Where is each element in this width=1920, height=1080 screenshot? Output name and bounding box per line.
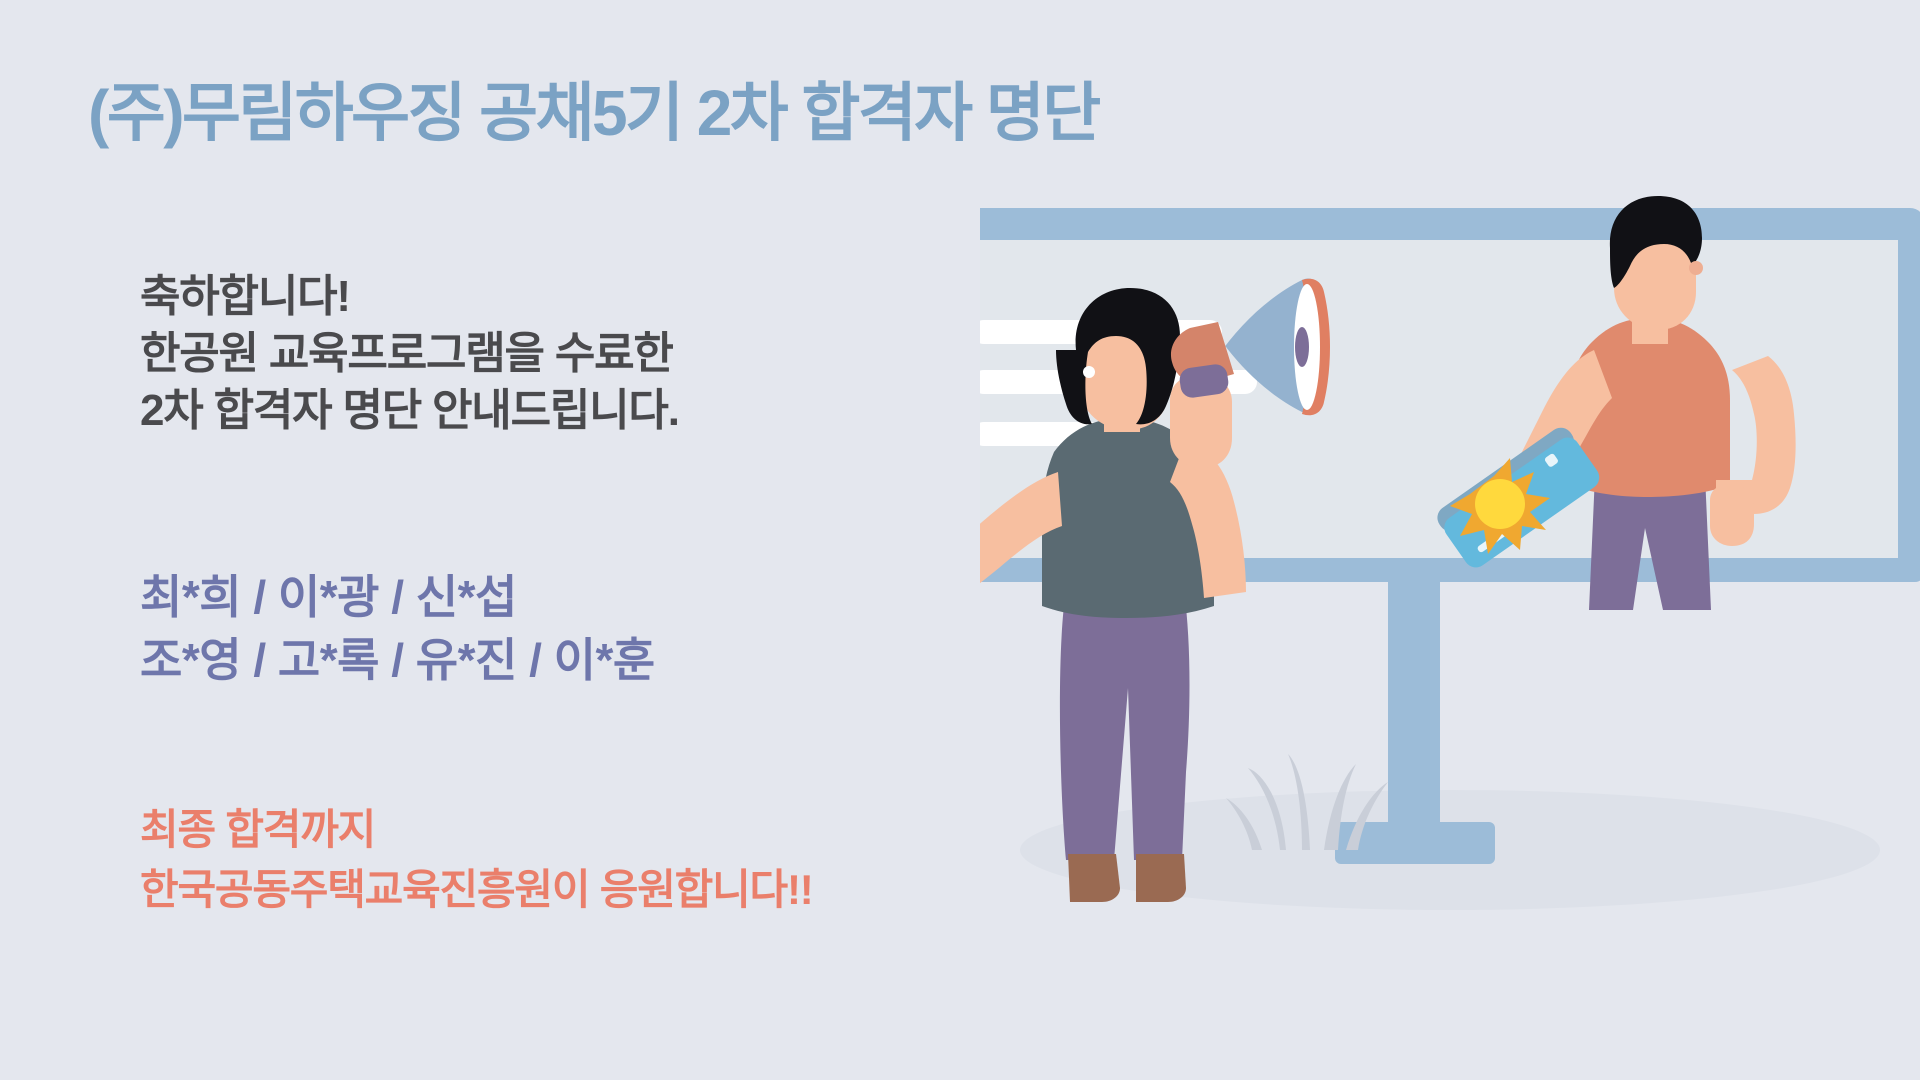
poster-canvas: (주)무림하우징 공채5기 2차 합격자 명단 축하합니다! 한공원 교육프로그… bbox=[0, 0, 1920, 1080]
page-title: (주)무림하우징 공채5기 2차 합격자 명단 bbox=[88, 80, 1099, 147]
body-text-block: 축하합니다! 한공원 교육프로그램을 수료한 2차 합격자 명단 안내드립니다. bbox=[140, 268, 960, 440]
megaphone-inner bbox=[1295, 327, 1309, 367]
woman-earring bbox=[1083, 366, 1095, 378]
body-line-3: 2차 합격자 명단 안내드립니다. bbox=[140, 382, 960, 439]
woman-shoe-left bbox=[1068, 854, 1120, 902]
billboard-frame-right bbox=[1898, 232, 1920, 577]
billboard-announcement-illustration bbox=[980, 190, 1920, 1080]
names-line-1: 최*희 / 이*광 / 신*섭 bbox=[140, 566, 960, 629]
woman-shoe-right bbox=[1136, 854, 1186, 902]
ribbon-medal bbox=[1475, 479, 1525, 529]
closing-line-1: 최종 합격까지 bbox=[140, 800, 1040, 860]
closing-message-block: 최종 합격까지 한국공동주택교육진흥원이 응원합니다!! bbox=[140, 800, 1040, 919]
body-line-1: 축하합니다! bbox=[140, 268, 960, 325]
body-line-2: 한공원 교육프로그램을 수료한 bbox=[140, 325, 960, 382]
closing-line-2: 한국공동주택교육진흥원이 응원합니다!! bbox=[140, 860, 1040, 920]
names-list-block: 최*희 / 이*광 / 신*섭 조*영 / 고*록 / 유*진 / 이*훈 bbox=[140, 566, 960, 693]
names-line-2: 조*영 / 고*록 / 유*진 / 이*훈 bbox=[140, 629, 960, 692]
billboard-frame-top bbox=[980, 208, 1920, 240]
billboard-post bbox=[1388, 570, 1440, 845]
man-right-hand bbox=[1710, 486, 1754, 546]
man-ear bbox=[1689, 261, 1703, 275]
